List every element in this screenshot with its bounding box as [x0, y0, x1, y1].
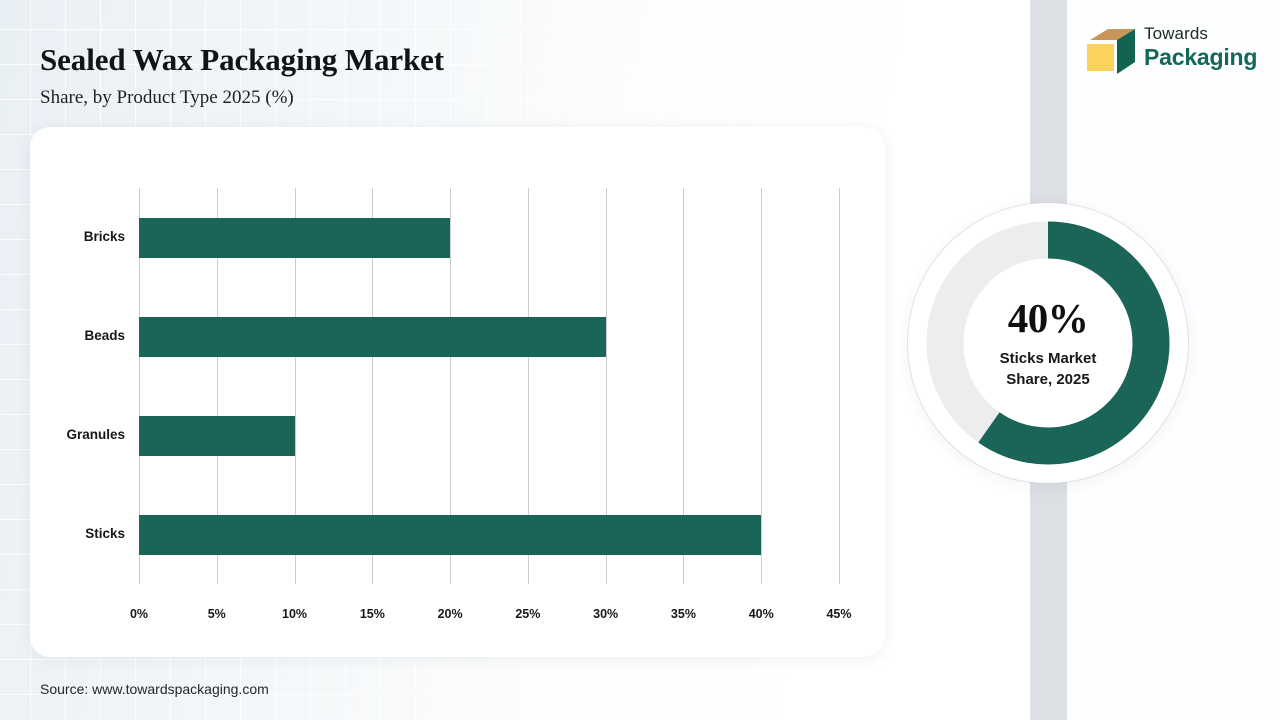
page-subtitle: Share, by Product Type 2025 (%) — [40, 87, 294, 109]
brand-logo: Towards Packaging — [1078, 24, 1250, 80]
donut-value: 40% — [1008, 296, 1089, 340]
page-title: Sealed Wax Packaging Market — [40, 42, 444, 78]
source-note: Source: www.towardspackaging.com — [40, 681, 269, 697]
x-axis-tick-10pct: 10% — [282, 607, 307, 621]
bar-bricks — [139, 218, 450, 258]
x-axis-tick-30pct: 30% — [593, 607, 618, 621]
donut-caption: Sticks Market Share, 2025 — [1000, 348, 1097, 390]
y-axis-label-bricks: Bricks — [84, 229, 125, 244]
bar-sticks — [139, 515, 761, 555]
box-icon — [1078, 28, 1136, 76]
brand-wordmark-line1: Towards — [1144, 24, 1254, 44]
brand-wordmark-line2: Packaging — [1144, 44, 1254, 70]
x-axis-tick-25pct: 25% — [515, 607, 540, 621]
y-axis-label-granules: Granules — [66, 427, 125, 442]
x-axis-tick-15pct: 15% — [360, 607, 385, 621]
x-axis-tick-35pct: 35% — [671, 607, 696, 621]
donut-center-label: 40% Sticks Market Share, 2025 — [908, 203, 1188, 483]
y-axis-category-labels: BricksBeadsGranulesSticks — [0, 188, 125, 584]
bar-beads — [139, 317, 606, 357]
y-axis-label-beads: Beads — [84, 328, 125, 343]
x-axis-tick-5pct: 5% — [208, 607, 226, 621]
bar-series — [139, 188, 839, 584]
bar-granules — [139, 416, 295, 456]
y-axis-label-sticks: Sticks — [85, 526, 125, 541]
x-axis-tick-45pct: 45% — [826, 607, 851, 621]
slide-canvas: Sealed Wax Packaging Market Share, by Pr… — [0, 0, 1280, 720]
bar-chart-plot-area — [139, 188, 839, 584]
brand-wordmark: Towards Packaging — [1144, 24, 1254, 70]
donut-chart: 40% Sticks Market Share, 2025 — [908, 203, 1188, 483]
x-axis-tick-labels: 0%5%10%15%20%25%30%35%40%45% — [139, 607, 839, 627]
x-axis-tick-40pct: 40% — [749, 607, 774, 621]
x-axis-tick-20pct: 20% — [438, 607, 463, 621]
gridline — [839, 188, 840, 584]
x-axis-tick-0pct: 0% — [130, 607, 148, 621]
